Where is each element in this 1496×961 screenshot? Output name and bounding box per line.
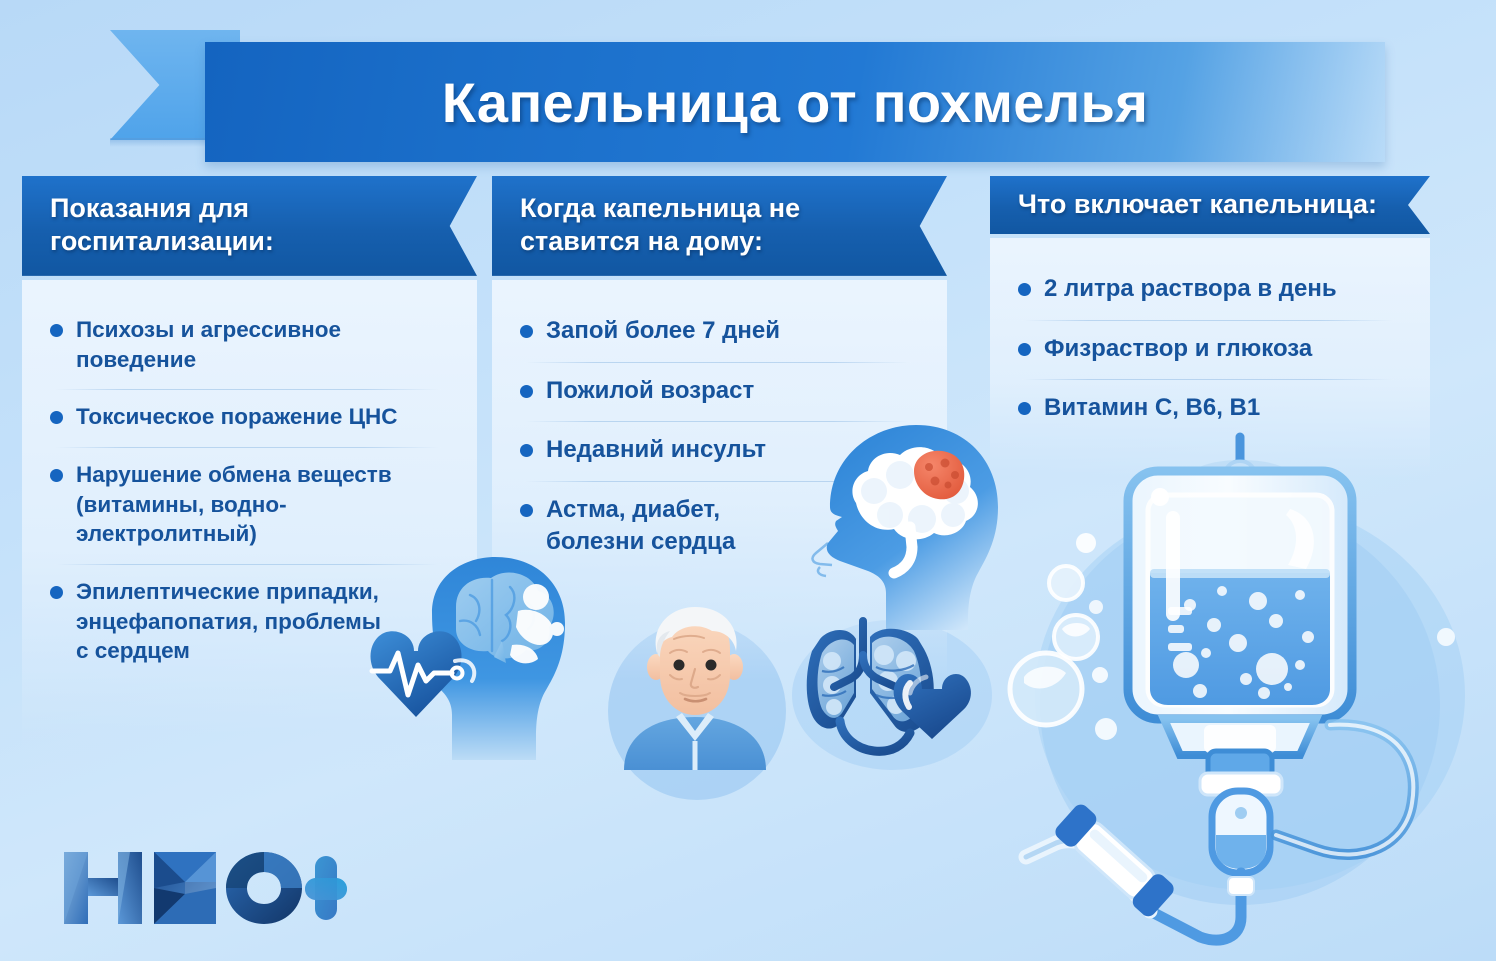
bullet-dot-icon: [1018, 402, 1031, 415]
list-item: Токсическое поражение ЦНС: [40, 389, 459, 447]
section-header-not-at-home: Когда капельница не ставится на дому:: [492, 176, 947, 276]
lungs-heart-icon: [800, 615, 985, 770]
list-item-label: 2 литра раствора в день: [1044, 273, 1337, 305]
bullet-dot-icon: [520, 504, 533, 517]
section-header-what-included: Что включает капельница:: [990, 176, 1430, 234]
bullet-dot-icon: [50, 586, 63, 599]
logo-letter-e: [154, 852, 216, 924]
list-item-label: Токсическое поражение ЦНС: [76, 402, 398, 432]
list-item-label: Нарушение обмена веществ (витамины, водн…: [76, 460, 453, 549]
logo-letter-n: [64, 852, 142, 924]
head-brain-heart-icon: [360, 545, 610, 760]
list-item: Пожилой возраст: [510, 362, 929, 422]
stroke-head-icon: [790, 415, 1020, 630]
logo-plus-icon: [305, 856, 347, 920]
bullet-dot-icon: [520, 325, 533, 338]
list-item-label: Эпилептические припадки, энцефапопатия, …: [76, 577, 381, 666]
list-item-label: Недавний инсульт: [546, 434, 766, 466]
bullet-dot-icon: [520, 385, 533, 398]
bullet-dot-icon: [1018, 343, 1031, 356]
bullet-dot-icon: [50, 324, 63, 337]
list-item: Физраствор и глюкоза: [1008, 320, 1412, 380]
list-item-label: Запой более 7 дней: [546, 315, 780, 347]
elderly-eye-right: [706, 660, 717, 671]
iv-drip-bag-icon: [1000, 425, 1480, 955]
list-item: 2 литра раствора в день: [1008, 260, 1412, 320]
bullet-dot-icon: [520, 444, 533, 457]
list-item-label: Физраствор и глюкоза: [1044, 333, 1312, 365]
elderly-person-icon: [600, 605, 790, 770]
bullet-dot-icon: [1018, 283, 1031, 296]
brand-logo[interactable]: [58, 838, 348, 938]
bullet-dot-icon: [50, 411, 63, 424]
elderly-eye-left: [674, 660, 685, 671]
logo-letter-o: [226, 852, 302, 924]
list-item: Психозы и агрессивное поведение: [40, 302, 459, 389]
section-header-hospitalization: Показания для госпитализации:: [22, 176, 477, 276]
list-item-label: Витамин С, В6, В1: [1044, 392, 1260, 424]
bullet-dot-icon: [50, 469, 63, 482]
list-item-label: Психозы и агрессивное поведение: [76, 315, 341, 374]
page-title: Капельница от похмелья: [205, 42, 1385, 162]
title-banner: Капельница от похмелья: [0, 30, 1420, 140]
list-item: Запой более 7 дней: [510, 302, 929, 362]
list-item-label: Пожилой возраст: [546, 375, 754, 407]
